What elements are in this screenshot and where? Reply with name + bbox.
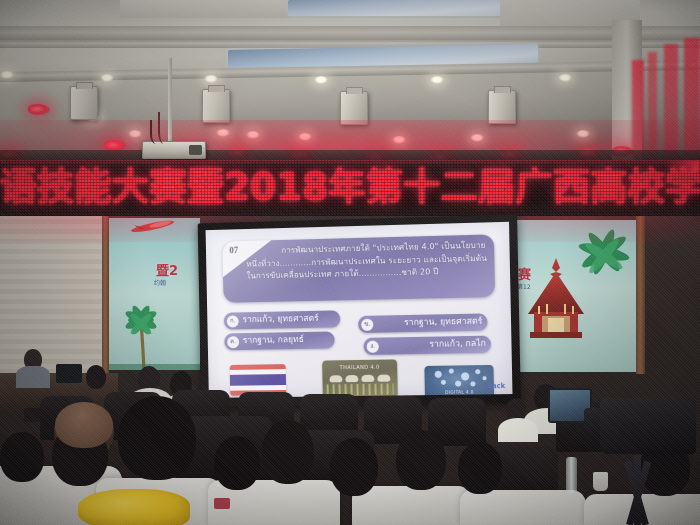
led-banner-text: 语技能大赛暨2018年第十二届广西高校学生泰语演 <box>0 161 700 214</box>
answer-option-d[interactable]: ง. รากแก้ว, กลไก <box>364 336 492 355</box>
phone-in-hand <box>214 498 230 509</box>
led-banner: 语技能大赛暨2018年第十二届广西高校学生泰语演 <box>0 160 700 216</box>
option-text-a: รากแก้ว, ยุทธศาสตร์ <box>242 310 335 329</box>
option-key-d: ง. <box>367 340 379 352</box>
downlight <box>392 136 406 144</box>
downlight <box>314 76 328 84</box>
yellow-bag <box>78 489 190 525</box>
downlight <box>100 74 114 82</box>
water-bottle <box>566 457 577 493</box>
answer-option-c[interactable]: ค. รากฐาน, กลยุทธ์ <box>224 331 335 350</box>
option-key-c: ค. <box>227 336 239 348</box>
option-text-c: รากฐาน, กลยุทธ์ <box>243 332 330 350</box>
backdrop-frame-far-right <box>636 216 645 374</box>
option-text-b: รากฐาน, ยุทธศาสตร์ <box>377 314 482 333</box>
thailand-40-caption: THAILAND 4.0 <box>322 364 397 371</box>
downlight <box>204 75 218 83</box>
attendee-torso <box>498 418 538 442</box>
video-camera <box>600 398 696 454</box>
answer-option-a[interactable]: ก. รากแก้ว, ยุทธศาสตร์ <box>224 310 341 329</box>
wall-panel-left <box>0 214 108 374</box>
downlight <box>298 133 312 141</box>
backdrop-frame-left <box>102 216 109 374</box>
option-key-b: ข. <box>361 318 373 330</box>
slide-surface: 07 การพัฒนาประเทศภายใต้ "ประเทศไทย 4.0" … <box>206 222 513 398</box>
backdrop-right-art <box>516 220 640 372</box>
projection-screen: 07 การพัฒนาประเทศภายใต้ "ประเทศไทย 4.0" … <box>198 214 521 406</box>
led-edge-glow <box>664 160 700 172</box>
downlight <box>216 129 230 137</box>
stage-spotlight <box>202 89 230 123</box>
audience-head <box>396 430 446 490</box>
skylight-upper <box>288 0 518 16</box>
digital-network-image: DIGITAL 4.0 <box>424 365 494 398</box>
paper-cup <box>593 472 608 491</box>
audience-head <box>458 442 502 494</box>
backdrop-subtext-left: 约翰 <box>154 278 166 287</box>
backdrop-right: 赛 第12 <box>516 220 640 372</box>
cloud-icons <box>328 375 391 383</box>
option-text-d: รากแก้ว, กลไก <box>383 336 487 355</box>
projector <box>142 141 206 159</box>
judge-monitor <box>56 364 82 383</box>
backdrop-left: 暨2 约翰 <box>108 218 200 370</box>
projector-cable <box>158 112 172 144</box>
downlight <box>576 130 590 138</box>
thai-flag-image <box>230 364 287 396</box>
answer-option-b[interactable]: ข. รากฐาน, ยุทธศาสตร์ <box>358 313 488 333</box>
audience-head-bald <box>55 402 113 448</box>
backdrop-text-left: 暨2 <box>156 260 178 279</box>
audience-head <box>330 438 378 496</box>
attendee-head <box>86 365 106 389</box>
audience-head <box>262 420 314 484</box>
audience-head <box>214 436 260 490</box>
backdrop-left-art <box>108 218 200 370</box>
camera-tripod <box>608 452 670 525</box>
option-key-a: ก. <box>227 315 239 327</box>
downlight <box>558 74 572 82</box>
backdrop-subtext-right: 第12 <box>517 282 531 291</box>
ceiling <box>0 0 700 166</box>
stage-spotlight <box>340 91 368 125</box>
downlight <box>470 134 484 142</box>
stage-spotlight <box>70 86 98 120</box>
downlight <box>0 71 14 79</box>
red-stage-light <box>28 104 50 115</box>
back-link[interactable]: Back <box>487 382 505 390</box>
thailand-40-poster-image: THAILAND 4.0 <box>322 359 398 398</box>
downlight <box>430 76 444 84</box>
chair-cover <box>460 490 586 525</box>
chair-cover <box>352 486 472 525</box>
downlight <box>128 130 142 138</box>
photo-scene: 语技能大赛暨2018年第十二届广西高校学生泰语演 <box>0 0 700 525</box>
stage-spotlight <box>488 90 516 124</box>
projector-lens <box>189 145 202 155</box>
question-box: 07 การพัฒนาประเทศภายใต้ "ประเทศไทย 4.0" … <box>222 234 495 302</box>
audience-head <box>118 396 196 480</box>
downlight <box>246 131 260 139</box>
judge-torso <box>16 366 50 388</box>
question-text: การพัฒนาประเทศภายใต้ "ประเทศไทย 4.0" เป็… <box>246 239 491 283</box>
audience-head <box>0 432 44 482</box>
question-number: 07 <box>229 245 238 255</box>
backdrop-text-right: 赛 <box>518 264 531 283</box>
